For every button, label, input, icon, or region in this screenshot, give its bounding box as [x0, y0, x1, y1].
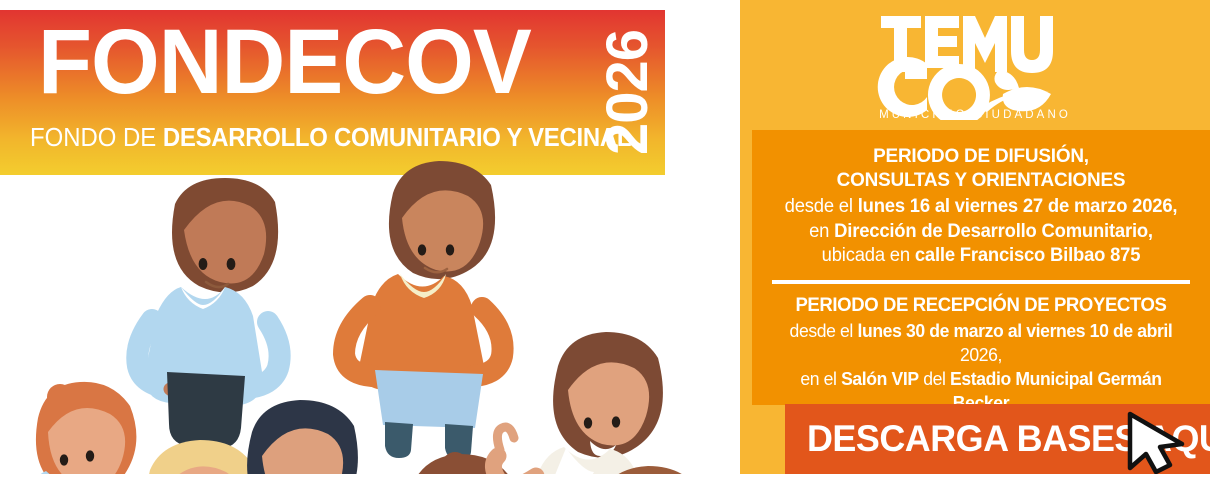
page-title: FONDECOV: [38, 16, 531, 108]
year-label: 2026: [595, 30, 662, 155]
recepcion-place-bold1: Salón VIP: [841, 368, 919, 389]
difusion-place: en Dirección de Desarrollo Comunitario,: [772, 220, 1189, 245]
leaf-icon: [982, 70, 1051, 112]
temuco-logo: MUNICIPIO CIUDADANO: [740, 8, 1210, 120]
mouse-cursor-icon: [1122, 410, 1200, 474]
difusion-details: desde el lunes 16 al viernes 27 de marzo…: [772, 195, 1189, 269]
difusion-heading-line1: PERIODO DE DIFUSIÓN,: [772, 144, 1189, 168]
difusion-heading-line2: CONSULTAS Y ORIENTACIONES: [772, 168, 1189, 192]
group-of-people-illustration: [0, 160, 700, 474]
subtitle-thin: FONDO DE: [30, 122, 163, 152]
recepcion-dates-bold: lunes 30 de marzo al viernes 10 de abril: [857, 320, 1172, 341]
person-ginger-bun: [0, 382, 136, 474]
difusion-place-thin: en: [809, 221, 834, 242]
subtitle-bold: DESARROLLO COMUNITARIO Y VECINAL: [163, 122, 631, 152]
difusion-dates: desde el lunes 16 al viernes 27 de marzo…: [772, 195, 1189, 220]
recepcion-place-thin1: en el: [800, 368, 841, 389]
difusion-address-bold: calle Francisco Bilbao 875: [915, 245, 1140, 266]
fondecov-2026-banner: FONDECOV FONDO DE DESARROLLO COMUNITARIO…: [0, 0, 1210, 474]
recepcion-dates: desde el lunes 30 de marzo al viernes 10…: [777, 319, 1186, 367]
difusion-dates-thin: desde el: [785, 196, 858, 217]
left-panel: FONDECOV FONDO DE DESARROLLO COMUNITARIO…: [0, 0, 740, 474]
recepcion-details: desde el lunes 30 de marzo al viernes 10…: [777, 319, 1186, 415]
period-recepcion-block: PERIODO DE RECEPCIÓN DE PROYECTOS desde …: [766, 293, 1196, 415]
person-blue-polo: [338, 452, 561, 474]
person-white-wrap-top: [493, 332, 674, 474]
year-badge: 2026: [597, 10, 659, 175]
right-panel: MUNICIPIO CIUDADANO PERIODO DE DIFUSIÓN,…: [740, 0, 1210, 474]
temuco-tagline: MUNICIPIO CIUDADANO: [879, 109, 1071, 120]
download-bases-button[interactable]: DESCARGA BASES AQUÍ: [785, 404, 1210, 474]
difusion-address-thin: ubicada en: [822, 245, 915, 266]
person-blue-shirt: [137, 178, 279, 448]
person-orange-sweater: [344, 161, 503, 460]
recepcion-dates-thin1: desde el: [790, 320, 858, 341]
difusion-place-bold: Dirección de Desarrollo Comunitario,: [834, 221, 1153, 242]
info-box: PERIODO DE DIFUSIÓN, CONSULTAS Y ORIENTA…: [752, 130, 1210, 405]
title-banner: FONDECOV FONDO DE DESARROLLO COMUNITARIO…: [0, 10, 665, 175]
recepcion-heading: PERIODO DE RECEPCIÓN DE PROYECTOS: [777, 293, 1186, 317]
section-divider: [772, 280, 1190, 284]
difusion-address: ubicada en calle Francisco Bilbao 875: [772, 244, 1189, 269]
period-difusion-block: PERIODO DE DIFUSIÓN, CONSULTAS Y ORIENTA…: [766, 144, 1196, 269]
page-subtitle: FONDO DE DESARROLLO COMUNITARIO Y VECINA…: [30, 123, 631, 151]
difusion-dates-bold: lunes 16 al viernes 27 de marzo 2026,: [858, 196, 1178, 217]
recepcion-dates-thin2: 2026,: [960, 344, 1002, 365]
recepcion-place-thin2: del: [919, 368, 950, 389]
